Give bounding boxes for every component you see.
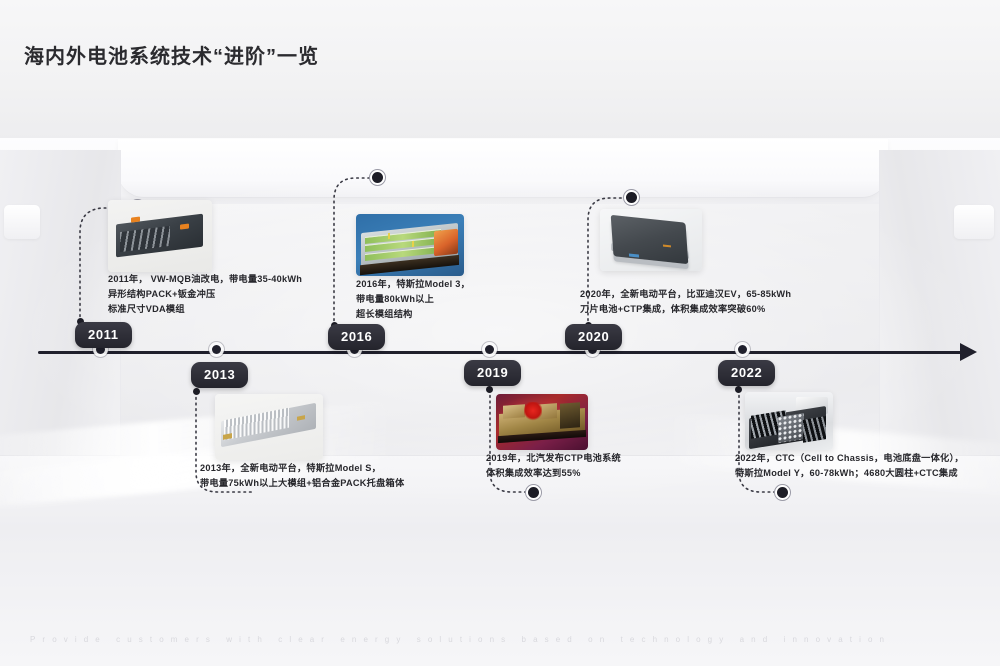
- page-title: 海内外电池系统技术“进阶”一览: [24, 40, 319, 69]
- photo-card-2013[interactable]: [215, 394, 323, 460]
- pack-section-c-2019: [560, 402, 580, 428]
- year-badge-2022[interactable]: 2022: [718, 360, 775, 386]
- year-badge-2016[interactable]: 2016: [328, 324, 385, 350]
- entry-text-2013: 2013年，全新电动平台，特斯拉Model S， 带电量75kWh以上大模组+铝…: [200, 461, 404, 491]
- entry-line: 异形结构PACK+钣金冲压: [108, 287, 302, 302]
- entry-line: 超长模组结构: [356, 307, 470, 322]
- battery-connector-tab-a-2011: [131, 216, 140, 222]
- timeline-arrow-icon: [960, 343, 977, 361]
- entry-line: 标准尺寸VDA模组: [108, 302, 302, 317]
- entry-text-2022: 2022年，CTC（Cell to Chassis，电池底盘一体化）， 特斯拉M…: [735, 451, 964, 481]
- connector-endpoint-2016: [372, 172, 383, 183]
- connector-basepoint-2013: [193, 388, 200, 395]
- year-badge-2011[interactable]: 2011: [75, 322, 132, 348]
- pack-label-2020: [628, 253, 638, 257]
- entry-line: 2013年，全新电动平台，特斯拉Model S，: [200, 461, 404, 476]
- entry-text-2011: 2011年， VW-MQB油改电，带电量35-40kWh 异形结构PACK+钣金…: [108, 272, 302, 317]
- header-band: 海内外电池系统技术“进阶”一览: [0, 0, 1000, 138]
- footer-tagline: Provide customers with clear energy solu…: [30, 635, 970, 644]
- entry-text-2019: 2019年，北汽发布CTP电池系统 体积集成效率达到55%: [486, 451, 621, 481]
- entry-line: 带电量80kWh以上: [356, 292, 470, 307]
- axis-node-2022[interactable]: [738, 345, 747, 354]
- photo-card-2022[interactable]: [745, 392, 833, 450]
- red-ribbon-decoration-2019: [524, 402, 542, 421]
- axis-node-2013[interactable]: [212, 345, 221, 354]
- year-badge-2019[interactable]: 2019: [464, 360, 521, 386]
- entry-line: 2016年，特斯拉Model 3，: [356, 277, 470, 292]
- entry-line: 2019年，北汽发布CTP电池系统: [486, 451, 621, 466]
- battery-front-section-2016: [434, 229, 458, 256]
- year-badge-2020[interactable]: 2020: [565, 324, 622, 350]
- connector-basepoint-2019: [486, 386, 493, 393]
- entry-line: 2011年， VW-MQB油改电，带电量35-40kWh: [108, 272, 302, 287]
- entry-line: 刀片电池+CTP集成，体积集成效率突破60%: [580, 302, 791, 317]
- photo-card-2016[interactable]: [356, 214, 464, 276]
- entry-line: 2022年，CTC（Cell to Chassis，电池底盘一体化），: [735, 451, 964, 466]
- module-divider-b-2016: [412, 241, 414, 247]
- entry-text-2016: 2016年，特斯拉Model 3， 带电量80kWh以上 超长模组结构: [356, 277, 470, 322]
- connector-endpoint-2020: [626, 192, 637, 203]
- connector-basepoint-2022: [735, 386, 742, 393]
- cylindrical-cells-4680-2022: [778, 413, 804, 443]
- photo-card-2020[interactable]: [600, 209, 702, 271]
- photo-card-2011[interactable]: [108, 200, 212, 272]
- entry-line: 2020年，全新电动平台，比亚迪汉EV，65-85kWh: [580, 287, 791, 302]
- battery-connector-tab-b-2011: [180, 223, 189, 229]
- timeline-axis: [38, 351, 968, 354]
- blade-battery-pack-2020: [611, 215, 689, 264]
- photo-card-2019[interactable]: [496, 394, 588, 450]
- pack-section-a-2019: [503, 404, 525, 419]
- slide-canvas: 海内外电池系统技术“进阶”一览 2011年， VW-MQB油改电，带电量35-4…: [0, 0, 1000, 666]
- entry-line: 特斯拉Model Y，60-78kWh；4680大圆柱+CTC集成: [735, 466, 964, 481]
- connector-endpoint-2022: [777, 487, 788, 498]
- year-badge-2013[interactable]: 2013: [191, 362, 248, 388]
- battery-terminal-a-2013: [223, 433, 232, 439]
- entry-line: 带电量75kWh以上大模组+铝合金PACK托盘箱体: [200, 476, 404, 491]
- connector-endpoint-2019: [528, 487, 539, 498]
- structural-fins-right-2022: [803, 416, 826, 443]
- axis-node-2019[interactable]: [485, 345, 494, 354]
- entry-text-2020: 2020年，全新电动平台，比亚迪汉EV，65-85kWh 刀片电池+CTP集成，…: [580, 287, 791, 317]
- entry-line: 体积集成效率达到55%: [486, 466, 621, 481]
